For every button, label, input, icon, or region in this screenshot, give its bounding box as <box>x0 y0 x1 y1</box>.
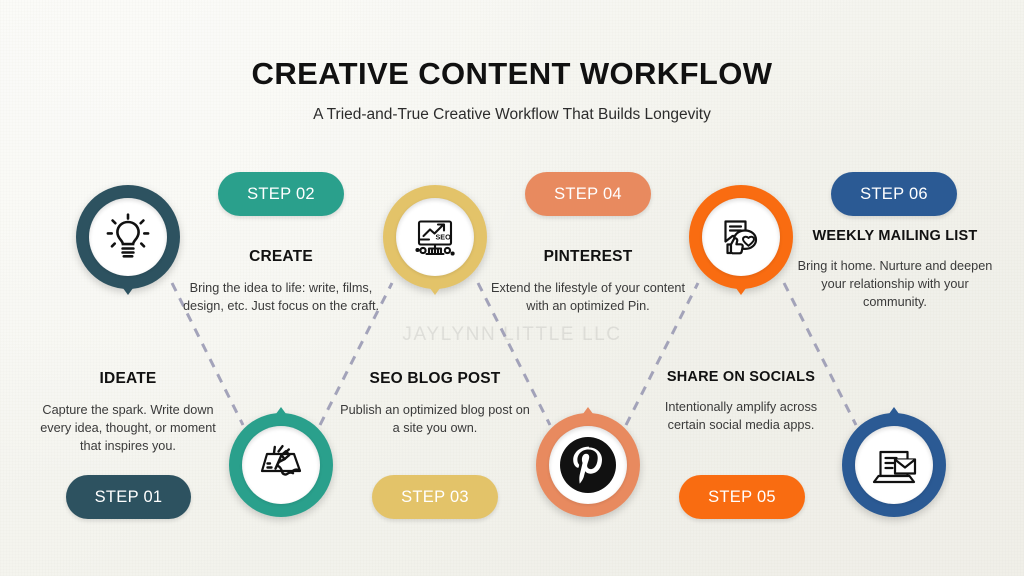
seo-monitor-icon: SEO <box>408 210 462 264</box>
step-3-heading: SEO BLOG POST <box>340 370 530 388</box>
step-1-description: Capture the spark. Write down every idea… <box>28 401 228 455</box>
step-1-pill-label: STEP 01 <box>95 488 163 507</box>
text-block-step-6: WEEKLY MAILING LIST Bring it home. Nurtu… <box>797 228 993 311</box>
step-2-pill[interactable]: STEP 02 <box>218 172 344 216</box>
step-3-description: Publish an optimized blog post on a site… <box>340 401 530 437</box>
page-title: CREATIVE CONTENT WORKFLOW <box>0 56 1024 92</box>
node-step-5[interactable] <box>689 185 793 289</box>
step-4-pill[interactable]: STEP 04 <box>525 172 651 216</box>
node-6-icon-disc <box>855 426 933 504</box>
infographic-canvas: CREATIVE CONTENT WORKFLOW A Tried-and-Tr… <box>0 0 1024 576</box>
page-subtitle: A Tried-and-True Creative Workflow That … <box>0 106 1024 124</box>
step-6-pill-label: STEP 06 <box>860 185 928 204</box>
step-6-pill[interactable]: STEP 06 <box>831 172 957 216</box>
header: CREATIVE CONTENT WORKFLOW A Tried-and-Tr… <box>0 0 1024 124</box>
step-4-pill-label: STEP 04 <box>554 185 622 204</box>
text-block-step-4: PINTEREST Extend the lifestyle of your c… <box>488 248 688 315</box>
node-step-4[interactable] <box>536 413 640 517</box>
node-step-3[interactable]: SEO <box>383 185 487 289</box>
text-block-step-2: CREATE Bring the idea to life: write, fi… <box>181 248 381 315</box>
node-step-2[interactable] <box>229 413 333 517</box>
laptop-email-icon <box>867 438 921 492</box>
step-5-heading: SHARE ON SOCIALS <box>646 369 836 385</box>
step-4-description: Extend the lifestyle of your content wit… <box>488 279 688 315</box>
text-block-step-3: SEO BLOG POST Publish an optimized blog … <box>340 370 530 437</box>
node-step-6[interactable] <box>842 413 946 517</box>
step-5-pill[interactable]: STEP 05 <box>679 475 805 519</box>
step-6-description: Bring it home. Nurture and deepen your r… <box>797 257 993 311</box>
node-1-icon-disc <box>89 198 167 276</box>
step-3-pill[interactable]: STEP 03 <box>372 475 498 519</box>
node-3-icon-disc: SEO <box>396 198 474 276</box>
step-4-heading: PINTEREST <box>488 248 688 266</box>
text-block-step-1: IDEATE Capture the spark. Write down eve… <box>28 370 228 455</box>
step-2-pill-label: STEP 02 <box>247 185 315 204</box>
writing-hand-icon <box>254 438 308 492</box>
step-1-heading: IDEATE <box>28 370 228 388</box>
social-engagement-icon <box>715 211 767 263</box>
step-2-heading: CREATE <box>181 248 381 266</box>
lightbulb-icon <box>102 211 154 263</box>
svg-text:SEO: SEO <box>436 233 452 242</box>
node-5-icon-disc <box>702 198 780 276</box>
step-5-pill-label: STEP 05 <box>708 488 776 507</box>
text-block-step-5: SHARE ON SOCIALS Intentionally amplify a… <box>646 369 836 434</box>
step-5-description: Intentionally amplify across certain soc… <box>646 398 836 434</box>
node-step-1[interactable] <box>76 185 180 289</box>
node-2-icon-disc <box>242 426 320 504</box>
step-3-pill-label: STEP 03 <box>401 488 469 507</box>
watermark: JAYLYNN LITTLE LLC <box>0 324 1024 346</box>
node-4-icon-disc <box>549 426 627 504</box>
step-1-pill[interactable]: STEP 01 <box>66 475 191 519</box>
step-6-heading: WEEKLY MAILING LIST <box>797 228 993 244</box>
step-2-description: Bring the idea to life: write, films, de… <box>181 279 381 315</box>
pinterest-logo-icon <box>557 434 619 496</box>
